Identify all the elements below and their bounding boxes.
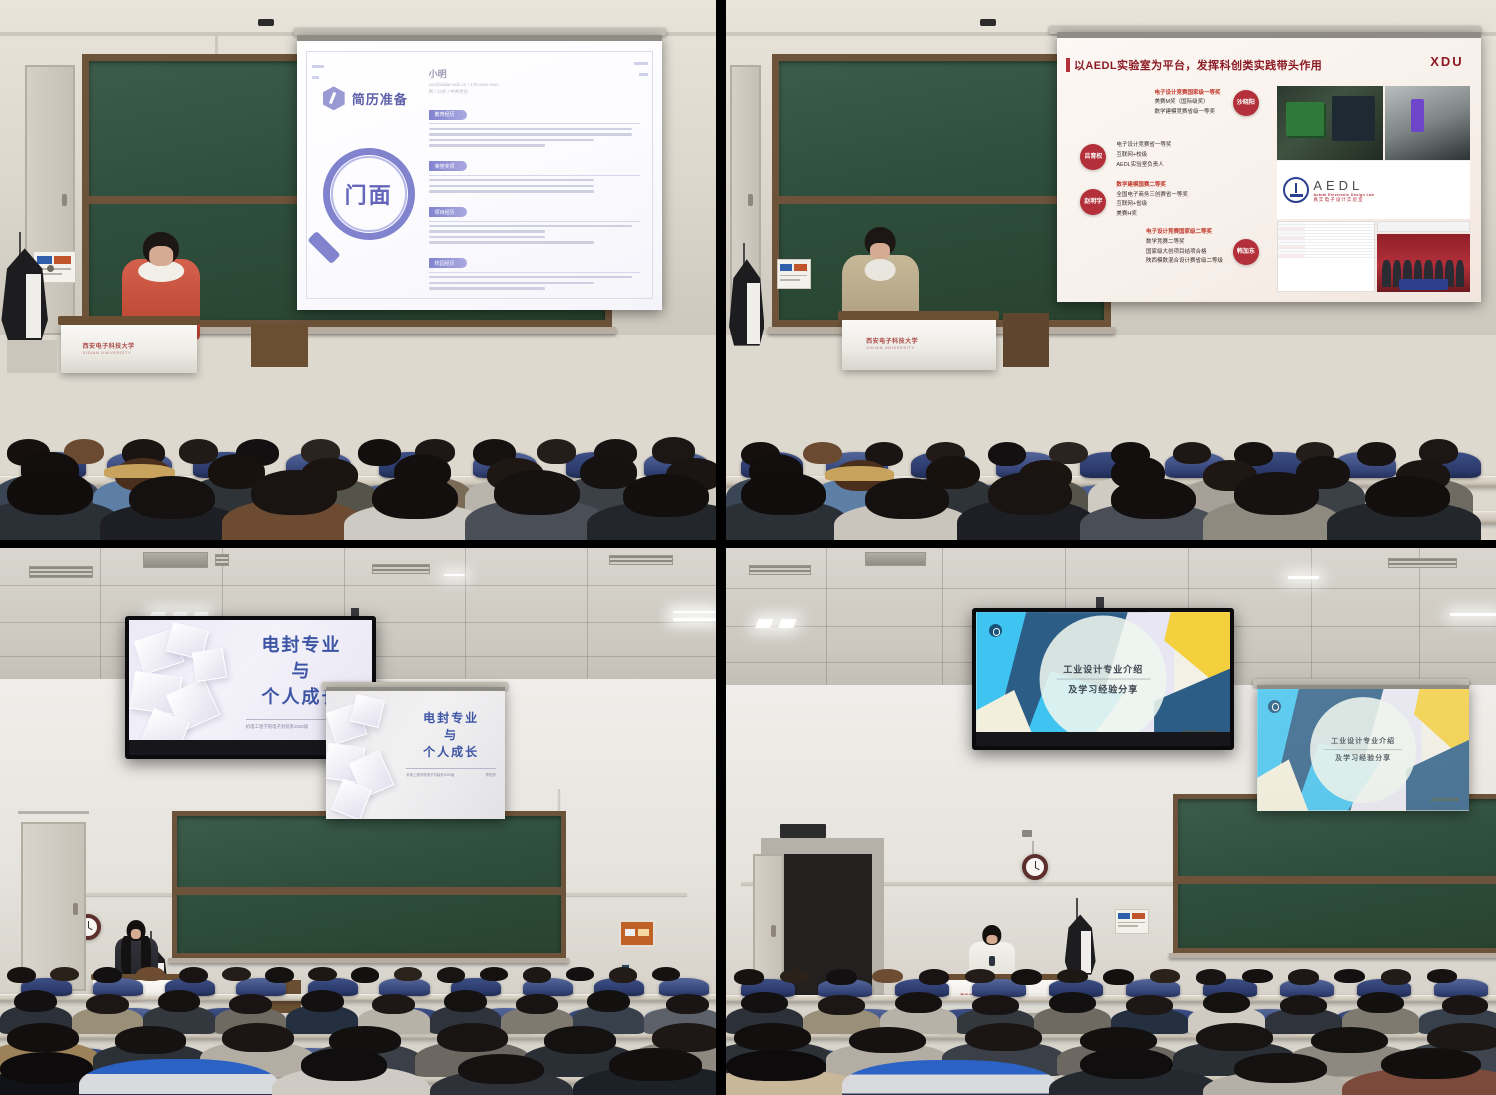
slide-industrial-design-projector: 工业设计专业介绍 及学习经验分享 2024/04/06	[1257, 689, 1469, 811]
resume-contact: xxx@xidian.edu.cn / 178-xxxx-xxxx	[429, 82, 641, 87]
wall-poster	[777, 259, 812, 289]
person-badge: 韩加东	[1233, 239, 1259, 265]
slide-aedl: 以AEDL实验室为平台，发挥科创类实践带头作用 XDU 电子设计竞赛国家级一等奖…	[1057, 38, 1481, 302]
slide-line-3: 个人成长	[406, 743, 496, 760]
aedl-mark-icon	[1283, 177, 1309, 203]
resume-section-header: 项目经历	[429, 207, 467, 217]
slide-line-2: 及学习经验分享	[1068, 683, 1138, 696]
projection-screen: 以AEDL实验室为平台，发挥科创类实践带头作用 XDU 电子设计竞赛国家级一等奖…	[1057, 32, 1481, 302]
gutter-vertical-top	[716, 0, 726, 540]
slide-line-2: 与	[406, 726, 496, 743]
audience-area	[726, 920, 1496, 1095]
slide-resume-prep: 简历准备 门面 小明 xxx@xidian.edu.cn / 178-xxxx-…	[297, 41, 662, 310]
achievement-list: 电子设计竞赛国家级一等奖 美赛M奖（国际级奖） 数学建模竞赛省级一等奖	[1154, 89, 1220, 118]
slide-title: 简历准备	[352, 89, 408, 108]
resume-section-header: 校园经历	[429, 258, 467, 268]
photo-collage: 简历准备 门面 小明 xxx@xidian.edu.cn / 178-xxxx-…	[0, 0, 1496, 1095]
panel-top-left[interactable]: 简历准备 门面 小明 xxx@xidian.edu.cn / 178-xxxx-…	[0, 0, 716, 540]
cap	[825, 466, 894, 480]
brand-xdu: XDU	[1430, 54, 1463, 69]
resume-meta: 男 / 23岁 / 中共党员	[429, 89, 641, 95]
aedl-name: AEDL	[1313, 178, 1374, 193]
team-group-photo	[1377, 234, 1470, 292]
logo-dot-icon	[1268, 700, 1281, 713]
ceiling-vent	[749, 565, 811, 575]
ceiling-ac-unit	[143, 552, 207, 568]
slide-line-1: 电封专业	[246, 631, 358, 657]
resume-section-header: 教育经历	[429, 110, 467, 120]
slide-dianfeng-projector: 电封专业 与 个人成长 机电工程学院电子封装系2020级 李知然	[326, 691, 505, 818]
audience-area	[726, 335, 1496, 540]
panel-bottom-right[interactable]: 工业设计专业介绍 及学习经验分享 2024/04/06	[726, 548, 1496, 1095]
gutter-horizontal	[0, 540, 1496, 548]
audience-area	[0, 335, 716, 540]
lab-machine-photo	[1385, 86, 1470, 160]
partner-logo-strip	[1377, 221, 1470, 233]
ceiling-ac-unit	[865, 552, 927, 566]
projector	[980, 19, 996, 26]
wall-mounted-tv[interactable]: 工业设计专业介绍 及学习经验分享 2024/04/06	[972, 608, 1234, 750]
slide-line-2: 及学习经验分享	[1335, 753, 1391, 763]
slide-byline-left: 机电工程学院电子封装系2020级	[406, 772, 454, 777]
circuit-board-photo	[1277, 86, 1383, 160]
ceiling-vent	[372, 564, 429, 574]
results-table	[1277, 221, 1374, 292]
clock-mount	[1032, 841, 1034, 855]
lecture-hall-bright: 工业设计专业介绍 及学习经验分享 2024/04/06	[726, 548, 1496, 1095]
title-circle: 工业设计专业介绍 及学习经验分享	[1310, 697, 1416, 803]
projection-screen: 简历准备 门面 小明 xxx@xidian.edu.cn / 178-xxxx-…	[297, 35, 662, 310]
resume-document: 小明 xxx@xidian.edu.cn / 178-xxxx-xxxx 男 /…	[429, 67, 641, 293]
resume-section-header: 荣誉奖项	[429, 161, 467, 171]
ceiling-vent	[29, 566, 93, 577]
ceiling-light	[1288, 576, 1319, 578]
coat-hook	[1076, 898, 1078, 920]
achievement-list: 数学建模国赛二等奖 全国电子商务三创赛省一等奖 互联网+省级 美赛H奖	[1116, 181, 1188, 220]
aedl-logo: AEDL Actual Electronic Design Lab 真实电子设计…	[1277, 161, 1470, 219]
resume-name: 小明	[429, 67, 641, 80]
slide-industrial-design-tv: 工业设计专业介绍 及学习经验分享 2024/04/06	[976, 612, 1230, 746]
resume-section: 项目经历	[429, 201, 641, 244]
projection-screen: 电封专业 与 个人成长 机电工程学院电子封装系2020级 李知然	[326, 687, 505, 818]
achievement-list: 电子设计竞赛省一等奖 互联网+校级 AEDL实验室负责人	[1116, 141, 1171, 170]
aedl-subtitle-cn: 真实电子设计实验室	[1313, 197, 1374, 203]
slide-line-1: 电封专业	[406, 709, 496, 726]
person-badge: 吕育权	[1080, 144, 1106, 170]
slide-date: 2024/04/06	[1431, 797, 1459, 802]
projection-screen: 工业设计专业介绍 及学习经验分享 2024/04/06	[1257, 685, 1469, 811]
panel-top-right[interactable]: 以AEDL实验室为平台，发挥科创类实践带头作用 XDU 电子设计竞赛国家级一等奖…	[726, 0, 1496, 540]
lecture-hall-bright: 电封专业 与 个人成长 机电工程学院电子封装系2020级 李知然	[0, 548, 716, 1095]
ceiling-vent	[609, 555, 673, 565]
slide-byline-right: 李知然	[486, 772, 496, 777]
ceiling-light	[444, 574, 465, 576]
slide-byline-left: 机电工程学院电子封装系2020级	[246, 724, 308, 730]
magnifier-icon: 门面	[323, 148, 415, 240]
title-circle: 工业设计专业介绍 及学习经验分享	[1040, 616, 1167, 743]
person-badge: 沙晓阳	[1233, 90, 1259, 116]
person-badge: 赵明宇	[1080, 189, 1106, 215]
wall-speaker-icon	[47, 265, 54, 272]
door-frame-top	[18, 811, 90, 814]
projector	[258, 19, 274, 26]
achievement-list: 电子设计竞赛国家级二等奖 数学竞赛二等奖 国家级大创项目结项合格 陕西模数混合设…	[1146, 228, 1223, 267]
blue-white-jacket	[842, 1060, 1058, 1095]
slide-line-1: 工业设计专业介绍	[1063, 663, 1143, 676]
slide-line-2: 与	[246, 657, 358, 683]
resume-section: 校园经历	[429, 252, 641, 290]
panel-bottom-left[interactable]: 电封专业 与 个人成长 机电工程学院电子封装系2020级 李知然	[0, 548, 716, 1095]
slide-line-1: 工业设计专业介绍	[1331, 736, 1395, 746]
audience-area	[0, 915, 716, 1095]
ceiling-light	[1450, 613, 1496, 616]
ceiling-light	[673, 618, 716, 621]
slide-headline: 以AEDL实验室为平台，发挥科创类实践带头作用	[1074, 57, 1322, 73]
gutter-vertical-bottom	[716, 548, 726, 1095]
resume-section: 教育经历	[429, 103, 641, 146]
resume-section: 荣誉奖项	[429, 155, 641, 193]
ceiling-vent	[1388, 558, 1457, 568]
ceiling-vent	[215, 554, 229, 567]
lecture-hall-dark: 简历准备 门面 小明 xxx@xidian.edu.cn / 178-xxxx-…	[0, 0, 716, 540]
ceiling-light	[673, 611, 716, 614]
wall-sensor	[1022, 830, 1032, 837]
magnifier-label: 门面	[323, 148, 415, 240]
lecture-hall-dark: 以AEDL实验室为平台，发挥科创类实践带头作用 XDU 电子设计竞赛国家级一等奖…	[726, 0, 1496, 540]
exit-sign	[780, 824, 826, 838]
